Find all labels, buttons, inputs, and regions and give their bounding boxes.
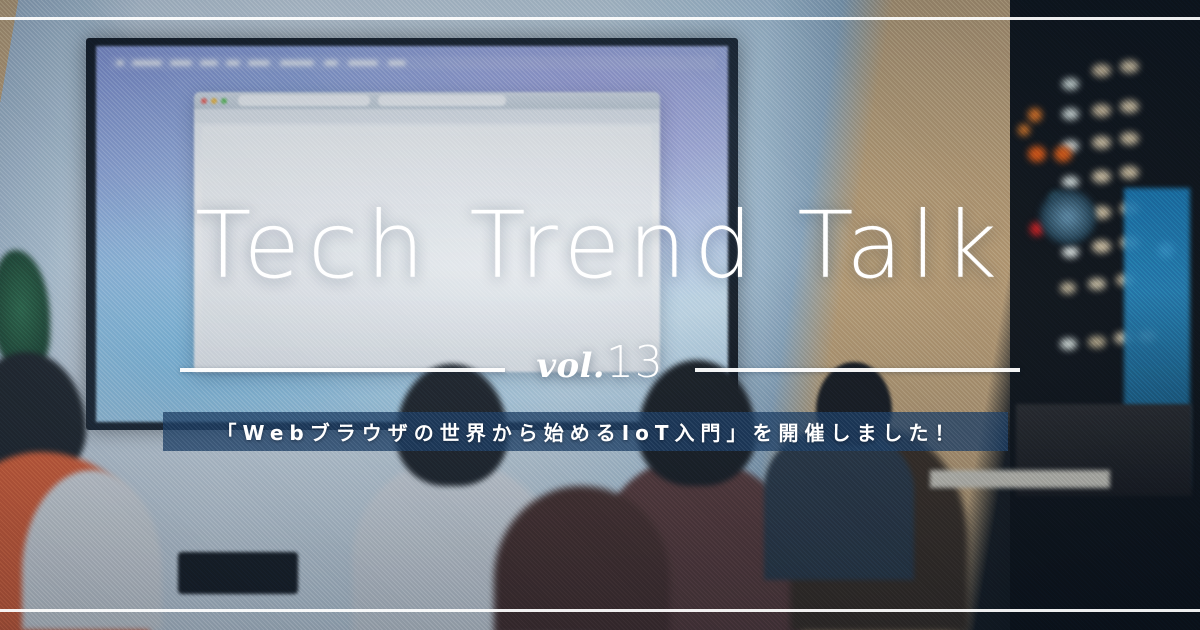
volume-row: vol.13	[0, 348, 1200, 392]
volume-word: vol.	[536, 346, 605, 386]
subtitle-banner: 「Webブラウザの世界から始めるIoT入門」を開催しました！	[163, 412, 1008, 451]
volume-label: vol.13	[505, 341, 695, 385]
page-title: Tech Trend Talk	[0, 200, 1200, 292]
left-vol-rule	[180, 368, 505, 372]
subtitle-text: 「Webブラウザの世界から始めるIoT入門」を開催しました！	[210, 417, 960, 446]
right-vol-rule	[695, 368, 1020, 372]
volume-number: 13	[606, 337, 664, 388]
text-layer: Tech Trend Talk vol.13 「Webブラウザの世界から始めるI…	[0, 0, 1200, 630]
banner-canvas: Tech Trend Talk vol.13 「Webブラウザの世界から始めるI…	[0, 0, 1200, 630]
